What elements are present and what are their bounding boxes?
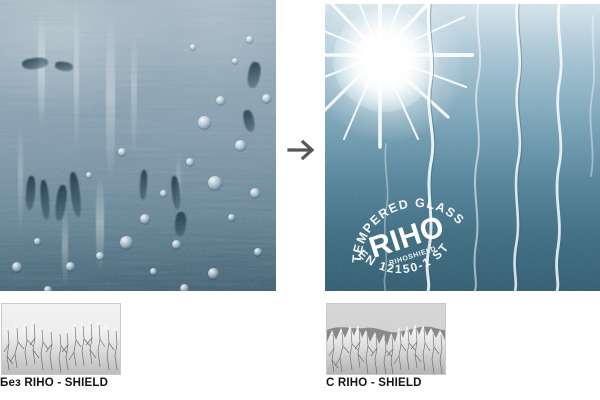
comparison-figure: TEMPERED GLASS RIHO RIHOSHIELD EN 12150-…	[0, 0, 600, 400]
caption-before: Без RIHO - SHIELD	[0, 377, 108, 389]
photo-after-coated-glass: TEMPERED GLASS RIHO RIHOSHIELD EN 12150-…	[325, 4, 600, 291]
photo-before-dirty-glass	[0, 0, 276, 291]
diagram-after-coated	[326, 303, 446, 375]
arrow-right-icon	[287, 138, 317, 162]
water-droplets-layer	[0, 0, 276, 291]
water-runnels	[325, 4, 600, 291]
diagram-before-uncoated	[1, 303, 121, 375]
caption-after: С RIHO - SHIELD	[326, 377, 422, 389]
